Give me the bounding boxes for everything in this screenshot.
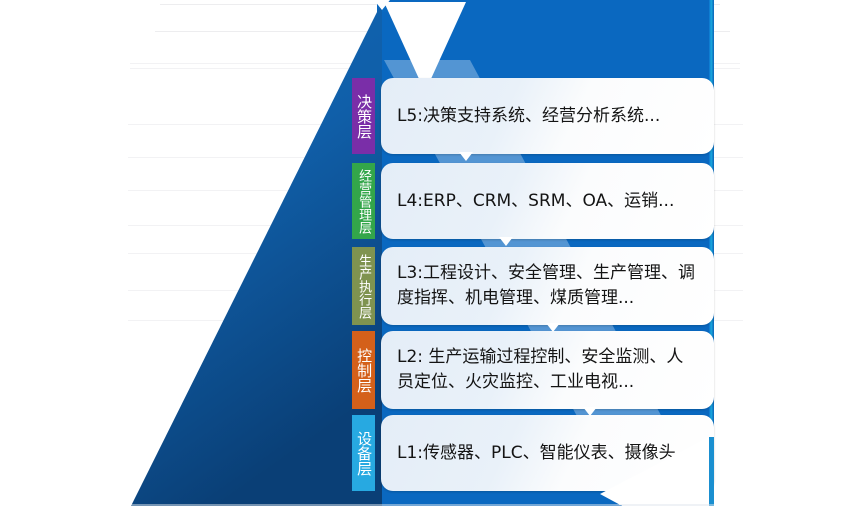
level-card-text-l2: L2: 生产运输过程控制、安全监测、人员定位、火灾监控、工业电视... (381, 345, 714, 394)
level-badge-l3: 生产执行层 (352, 247, 375, 325)
level-card-text-l5: L5:决策支持系统、经营分析系统... (381, 104, 676, 129)
level-badge-label-l5: 决策层 (356, 94, 371, 139)
level-card-l1[interactable]: L1:传感器、PLC、智能仪表、摄像头... (381, 415, 714, 491)
level-badge-l4: 经营管理层 (352, 163, 375, 239)
pyramid-level-row-l1[interactable]: 设备层 L1:传感器、PLC、智能仪表、摄像头... (352, 415, 714, 491)
gap-arrow-l3-l2 (546, 323, 560, 332)
level-badge-l2: 控制层 (352, 331, 375, 409)
level-badge-label-l4: 经营管理层 (357, 169, 370, 234)
level-card-l2[interactable]: L2: 生产运输过程控制、安全监测、人员定位、火灾监控、工业电视... (381, 331, 714, 409)
level-card-text-l4: L4:ERP、CRM、SRM、OA、运销... (381, 189, 690, 214)
apex-arrow-marker (374, 0, 390, 10)
level-badge-label-l2: 控制层 (356, 348, 371, 393)
pyramid-level-row-l5[interactable]: 决策层 L5:决策支持系统、经营分析系统... (352, 78, 714, 154)
gap-arrow-l2-l1 (583, 407, 597, 416)
level-badge-label-l1: 设备层 (356, 431, 371, 476)
level-card-text-l1: L1:传感器、PLC、智能仪表、摄像头... (381, 441, 708, 466)
level-card-text-l3: L3:工程设计、安全管理、生产管理、调度指挥、机电管理、煤质管理... (381, 261, 714, 310)
level-card-l3[interactable]: L3:工程设计、安全管理、生产管理、调度指挥、机电管理、煤质管理... (381, 247, 714, 325)
level-card-l5[interactable]: L5:决策支持系统、经营分析系统... (381, 78, 714, 154)
pyramid-level-row-l4[interactable]: 经营管理层 L4:ERP、CRM、SRM、OA、运销... (352, 163, 714, 239)
pyramid-diagram-canvas: 决策层 L5:决策支持系统、经营分析系统... 经营管理层 L4:ERP、CRM… (0, 0, 856, 514)
level-badge-l1: 设备层 (352, 415, 375, 491)
gap-arrow-l4-l3 (499, 237, 513, 246)
level-card-l4[interactable]: L4:ERP、CRM、SRM、OA、运销... (381, 163, 714, 239)
gap-arrow-l5-l4 (459, 152, 473, 161)
pyramid-level-row-l3[interactable]: 生产执行层 L3:工程设计、安全管理、生产管理、调度指挥、机电管理、煤质管理..… (352, 247, 714, 325)
level-badge-l5: 决策层 (352, 78, 375, 154)
level-badge-label-l3: 生产执行层 (357, 254, 370, 319)
pyramid-level-row-l2[interactable]: 控制层 L2: 生产运输过程控制、安全监测、人员定位、火灾监控、工业电视... (352, 331, 714, 409)
